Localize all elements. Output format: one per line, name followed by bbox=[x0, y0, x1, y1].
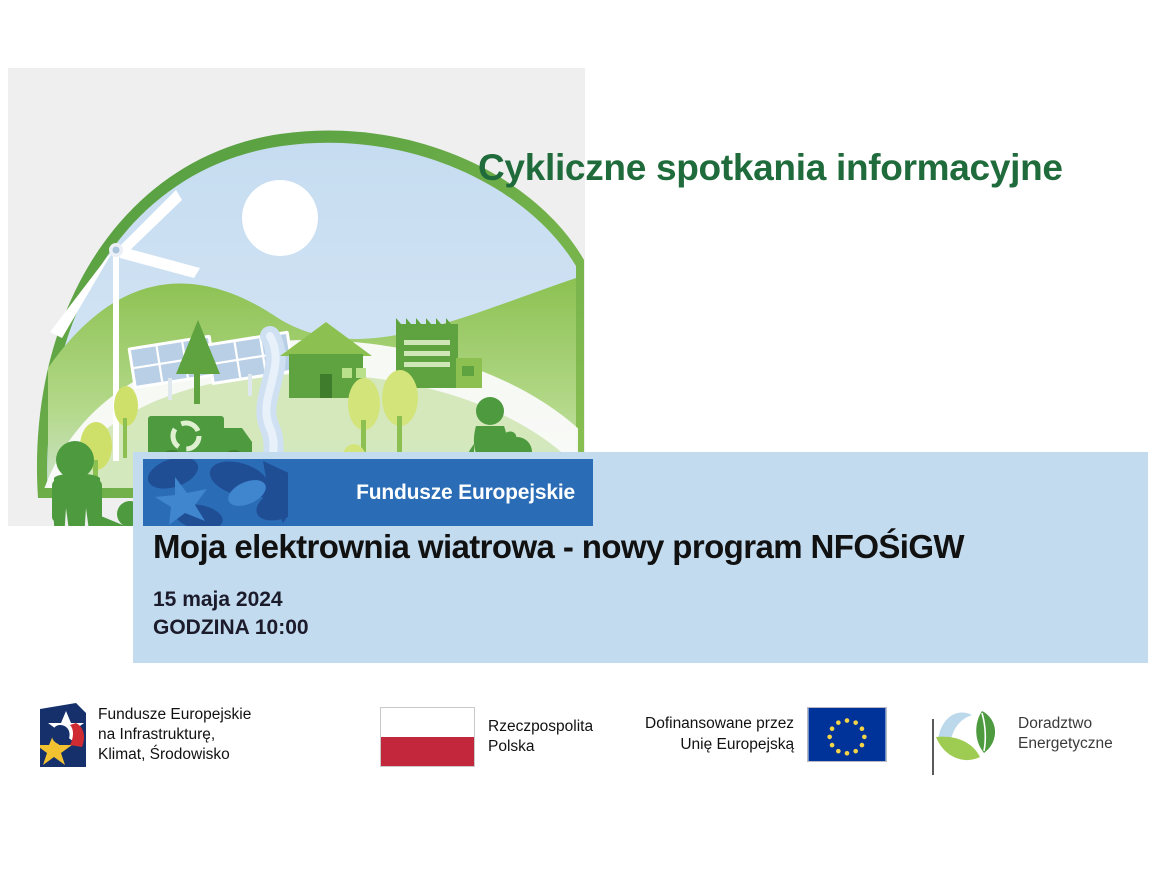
sun bbox=[242, 180, 318, 256]
page-title: Cykliczne spotkania informacyjne bbox=[478, 148, 1143, 189]
event-date: 15 maja 2024 bbox=[153, 588, 283, 612]
de-logo-line-1: Doradztwo bbox=[1018, 714, 1113, 734]
footer-logo-bar: Fundusze Europejskie na Infrastrukturę, … bbox=[0, 697, 1169, 797]
event-time: GODZINA 10:00 bbox=[153, 616, 309, 640]
doradztwo-energetyczne-logo: Doradztwo Energetyczne bbox=[930, 701, 1113, 767]
fundusze-europejskie-logo: Fundusze Europejskie na Infrastrukturę, … bbox=[40, 703, 251, 767]
fe-logo-line-1: Fundusze Europejskie bbox=[98, 705, 251, 725]
pl-logo-text: Rzeczpospolita Polska bbox=[488, 717, 593, 758]
de-logo-text: Doradztwo Energetyczne bbox=[1018, 714, 1113, 755]
poland-flag-icon bbox=[380, 707, 475, 767]
eu-logo-line-1: Dofinansowane przez bbox=[645, 714, 794, 734]
eu-logo-line-2: Unię Europejską bbox=[645, 735, 794, 755]
fe-badge-label: Fundusze Europejskie bbox=[356, 481, 575, 505]
program-title: Moja elektrownia wiatrowa - nowy program… bbox=[153, 528, 964, 566]
poland-flag-red-band bbox=[381, 737, 474, 766]
fundusze-europejskie-badge: Fundusze Europejskie bbox=[143, 459, 593, 526]
fe-star-mark-icon bbox=[40, 703, 86, 767]
pl-logo-line-2: Polska bbox=[488, 737, 593, 757]
rzeczpospolita-polska-logo: Rzeczpospolita Polska bbox=[380, 707, 593, 767]
de-logo-line-2: Energetyczne bbox=[1018, 734, 1113, 754]
unia-europejska-logo: Dofinansowane przez Unię Europejską bbox=[645, 707, 887, 762]
fe-logo-line-2: na Infrastrukturę, bbox=[98, 725, 251, 745]
pl-logo-line-1: Rzeczpospolita bbox=[488, 717, 593, 737]
eu-flag-icon bbox=[807, 707, 887, 762]
fe-logo-text: Fundusze Europejskie na Infrastrukturę, … bbox=[98, 705, 251, 764]
fe-logo-line-3: Klimat, Środowisko bbox=[98, 745, 251, 765]
leaf-mark-icon bbox=[930, 701, 1008, 767]
eu-logo-text: Dofinansowane przez Unię Europejską bbox=[645, 714, 794, 755]
